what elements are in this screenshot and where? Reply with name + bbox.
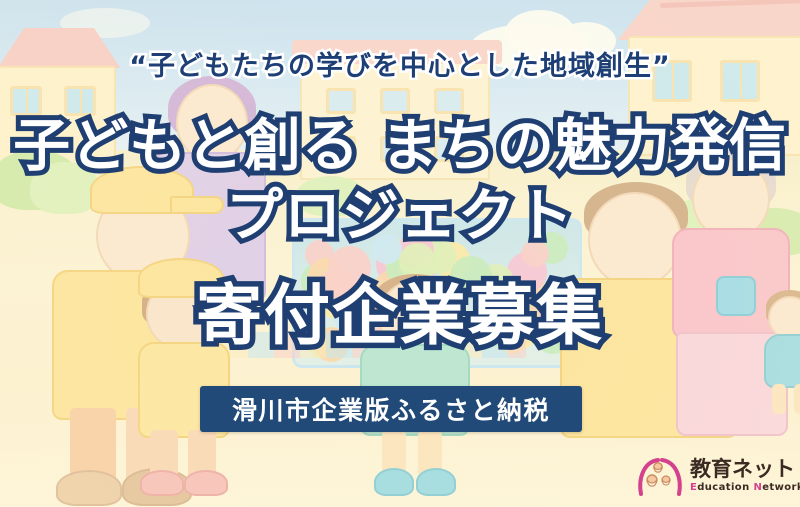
text-overlay: “子どもたちの学びを中心とした地域創生” 子どもと創る まちの魅力発信 プロジェ… [0,0,800,507]
program-badge-label: 滑川市企業版ふるさと納税 [232,391,550,427]
logo-english-name: Education Network [690,483,800,493]
parent-and-children-logo-icon [636,454,684,498]
logo-en-etwork: etwork [762,482,800,493]
banner-tagline: “子どもたちの学びを中心とした地域創生” [0,44,800,83]
headline-line-2: プロジェクト [0,170,800,252]
logo-en-n: N [753,482,762,493]
logo-en-ducation: ducation [697,482,753,493]
logo-japanese-name: 教育ネット [690,459,800,480]
headline-call-to-action: 寄付企業募集 [0,262,800,358]
banner-image: “子どもたちの学びを中心とした地域創生” 子どもと創る まちの魅力発信 プロジェ… [0,0,800,507]
organization-logo: 教育ネット Education Network [636,450,796,502]
program-badge: 滑川市企業版ふるさと納税 [200,386,582,432]
